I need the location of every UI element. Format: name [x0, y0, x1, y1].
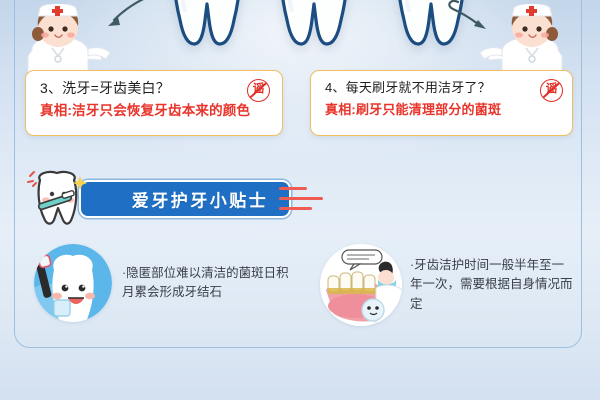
tip-text: ·隐匿部位难以清洁的菌斑日积月累会形成牙结石 [122, 264, 294, 303]
myth-question: 3、洗牙=牙齿美白？ [40, 81, 270, 95]
tip-thumbnail [320, 244, 402, 326]
dental-health-poster: 3、洗牙=牙齿美白？ 真相:洁牙只会恢复牙齿本来的颜色 谣 4、每天刷牙就不用洁… [0, 0, 600, 400]
myth-card[interactable]: 4、每天刷牙就不用洁牙了？ 真相:刷牙只能清理部分的菌斑 谣 [310, 70, 573, 136]
rumor-badge-icon: 谣 [540, 79, 563, 102]
nurse-character-icon [14, 4, 112, 74]
banner-title: 爱牙护牙小贴士 [81, 187, 289, 212]
nurse-character-icon [478, 4, 576, 74]
myth-card[interactable]: 3、洗牙=牙齿美白？ 真相:洁牙只会恢复牙齿本来的颜色 谣 [25, 70, 283, 136]
tooth-mascot-with-toothbrush-icon [24, 170, 90, 228]
molar-tooth-stained-2 [275, 0, 353, 48]
myth-truth-text: 洁牙只会恢复牙齿本来的颜色 [72, 103, 250, 118]
dental-calculus-illustration-photo [320, 244, 402, 326]
myth-truth-label: 真相: [325, 102, 356, 117]
tip-text: ·牙齿洁护时间一般半年至一年一次，需要根据自身情况而定 [410, 256, 576, 314]
banner-bar: 爱牙护牙小贴士 [79, 180, 291, 218]
myth-question: 4、每天刷牙就不用洁牙了？ [325, 81, 560, 94]
myth-truth-label: 真相: [40, 103, 72, 118]
tooth-mascot-brushing-photo [34, 244, 112, 322]
myth-truth: 真相:刷牙只能清理部分的菌斑 [325, 103, 560, 116]
section-banner: 爱牙护牙小贴士 [24, 176, 324, 224]
myth-truth: 真相:洁牙只会恢复牙齿本来的颜色 [40, 104, 270, 118]
banner-accent-lines [279, 186, 334, 214]
myth-truth-text: 刷牙只能清理部分的菌斑 [356, 102, 501, 117]
tip-item: ·牙齿洁护时间一般半年至一年一次，需要根据自身情况而定 [320, 244, 588, 326]
rumor-badge-icon: 谣 [247, 79, 270, 102]
tip-thumbnail [34, 244, 112, 322]
molar-tooth-stained-1 [168, 0, 246, 48]
tip-item: ·隐匿部位难以清洁的菌斑日积月累会形成牙结石 [34, 244, 304, 322]
